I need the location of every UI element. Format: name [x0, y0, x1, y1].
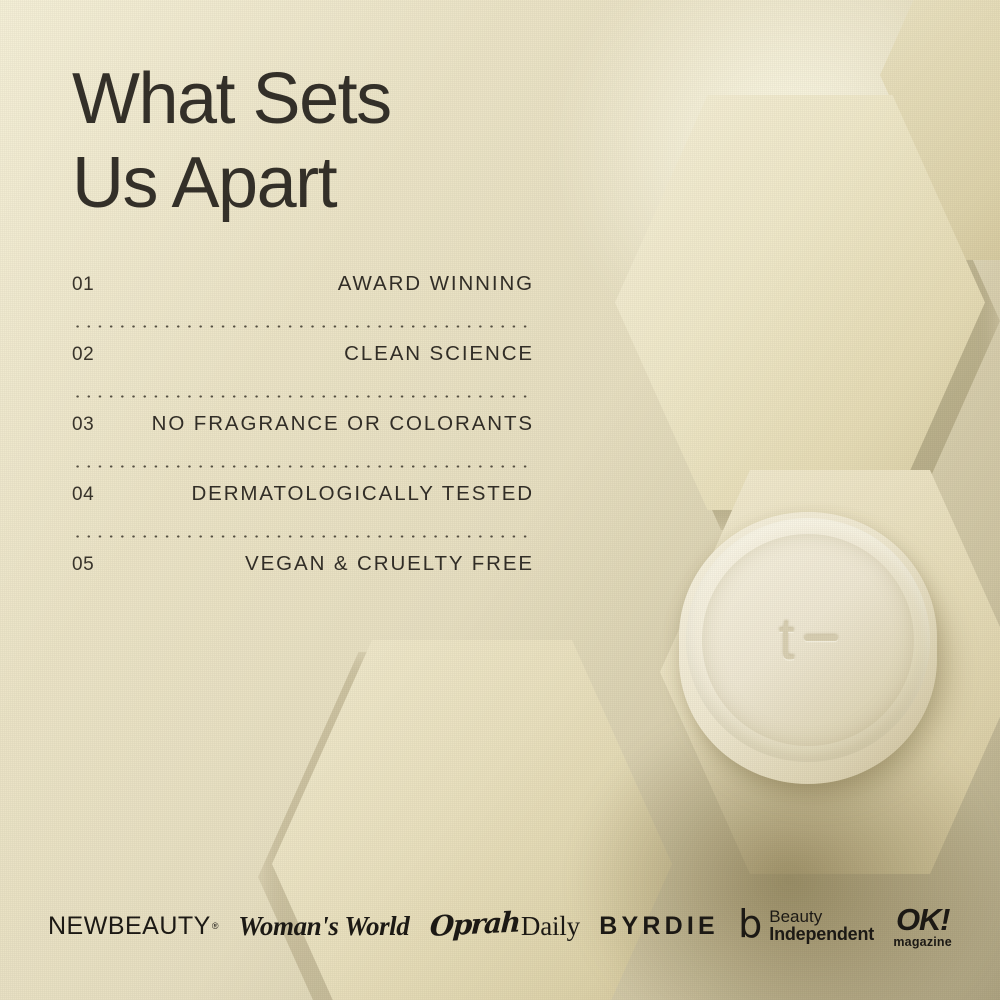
logo-line-beauty: Beauty: [769, 908, 874, 925]
promotional-graphic: t What Sets Us Apart 01 AWARD WINNING 02…: [0, 0, 1000, 1000]
feature-row: 05 VEGAN & CRUELTY FREE: [72, 552, 534, 592]
logo-newbeauty: NEWBEAUTY®: [48, 912, 219, 941]
trademark-symbol: ®: [212, 921, 219, 931]
feature-label: VEGAN & CRUELTY FREE: [245, 552, 534, 576]
feature-divider: [72, 382, 534, 412]
logo-byrdie: BYRDIE: [599, 912, 719, 941]
logo-magazine-text: magazine: [893, 936, 952, 949]
logo-ok-text: OK!: [896, 904, 949, 935]
feature-row: 03 NO FRAGRANCE OR COLORANTS: [72, 412, 534, 452]
logo-womans-world: Woman's World: [238, 911, 409, 942]
feature-list: 01 AWARD WINNING 02 CLEAN SCIENCE 03 NO …: [72, 272, 534, 592]
logo-womans-world-text: Woman's World: [238, 911, 409, 942]
feature-divider: [72, 312, 534, 342]
feature-row: 04 DERMATOLOGICALLY TESTED: [72, 482, 534, 522]
logo-byrdie-text: BYRDIE: [599, 912, 719, 941]
feature-label: CLEAN SCIENCE: [344, 342, 534, 366]
beauty-independent-b-icon: b: [738, 909, 762, 940]
feature-divider: [72, 452, 534, 482]
feature-number: 05: [72, 554, 94, 576]
feature-row: 01 AWARD WINNING: [72, 272, 534, 312]
feature-divider: [72, 522, 534, 552]
logo-beauty-independent-wordmark: Beauty Independent: [769, 908, 874, 944]
feature-row: 02 CLEAN SCIENCE: [72, 342, 534, 382]
foreground-content: What Sets Us Apart 01 AWARD WINNING 02 C…: [0, 0, 1000, 1000]
feature-number: 01: [72, 274, 94, 296]
feature-label: NO FRAGRANCE OR COLORANTS: [152, 412, 534, 436]
feature-label: DERMATOLOGICALLY TESTED: [191, 482, 534, 506]
page-title: What Sets Us Apart: [72, 58, 391, 225]
feature-number: 02: [72, 344, 94, 366]
logo-daily-text: Daily: [521, 911, 580, 942]
logo-line-independent: Independent: [769, 925, 874, 943]
feature-number: 04: [72, 484, 94, 506]
feature-label: AWARD WINNING: [338, 272, 534, 296]
logo-beauty-independent: b Beauty Independent: [738, 908, 874, 944]
logo-ok-magazine: OK! magazine: [893, 904, 952, 949]
logo-oprah-daily: Oprah Daily: [429, 910, 580, 943]
logo-oprah-script: Oprah: [429, 905, 520, 943]
logo-newbeauty-text: NEWBEAUTY: [48, 912, 211, 941]
feature-number: 03: [72, 414, 94, 436]
press-logo-row: NEWBEAUTY® Woman's World Oprah Daily BYR…: [0, 896, 1000, 956]
